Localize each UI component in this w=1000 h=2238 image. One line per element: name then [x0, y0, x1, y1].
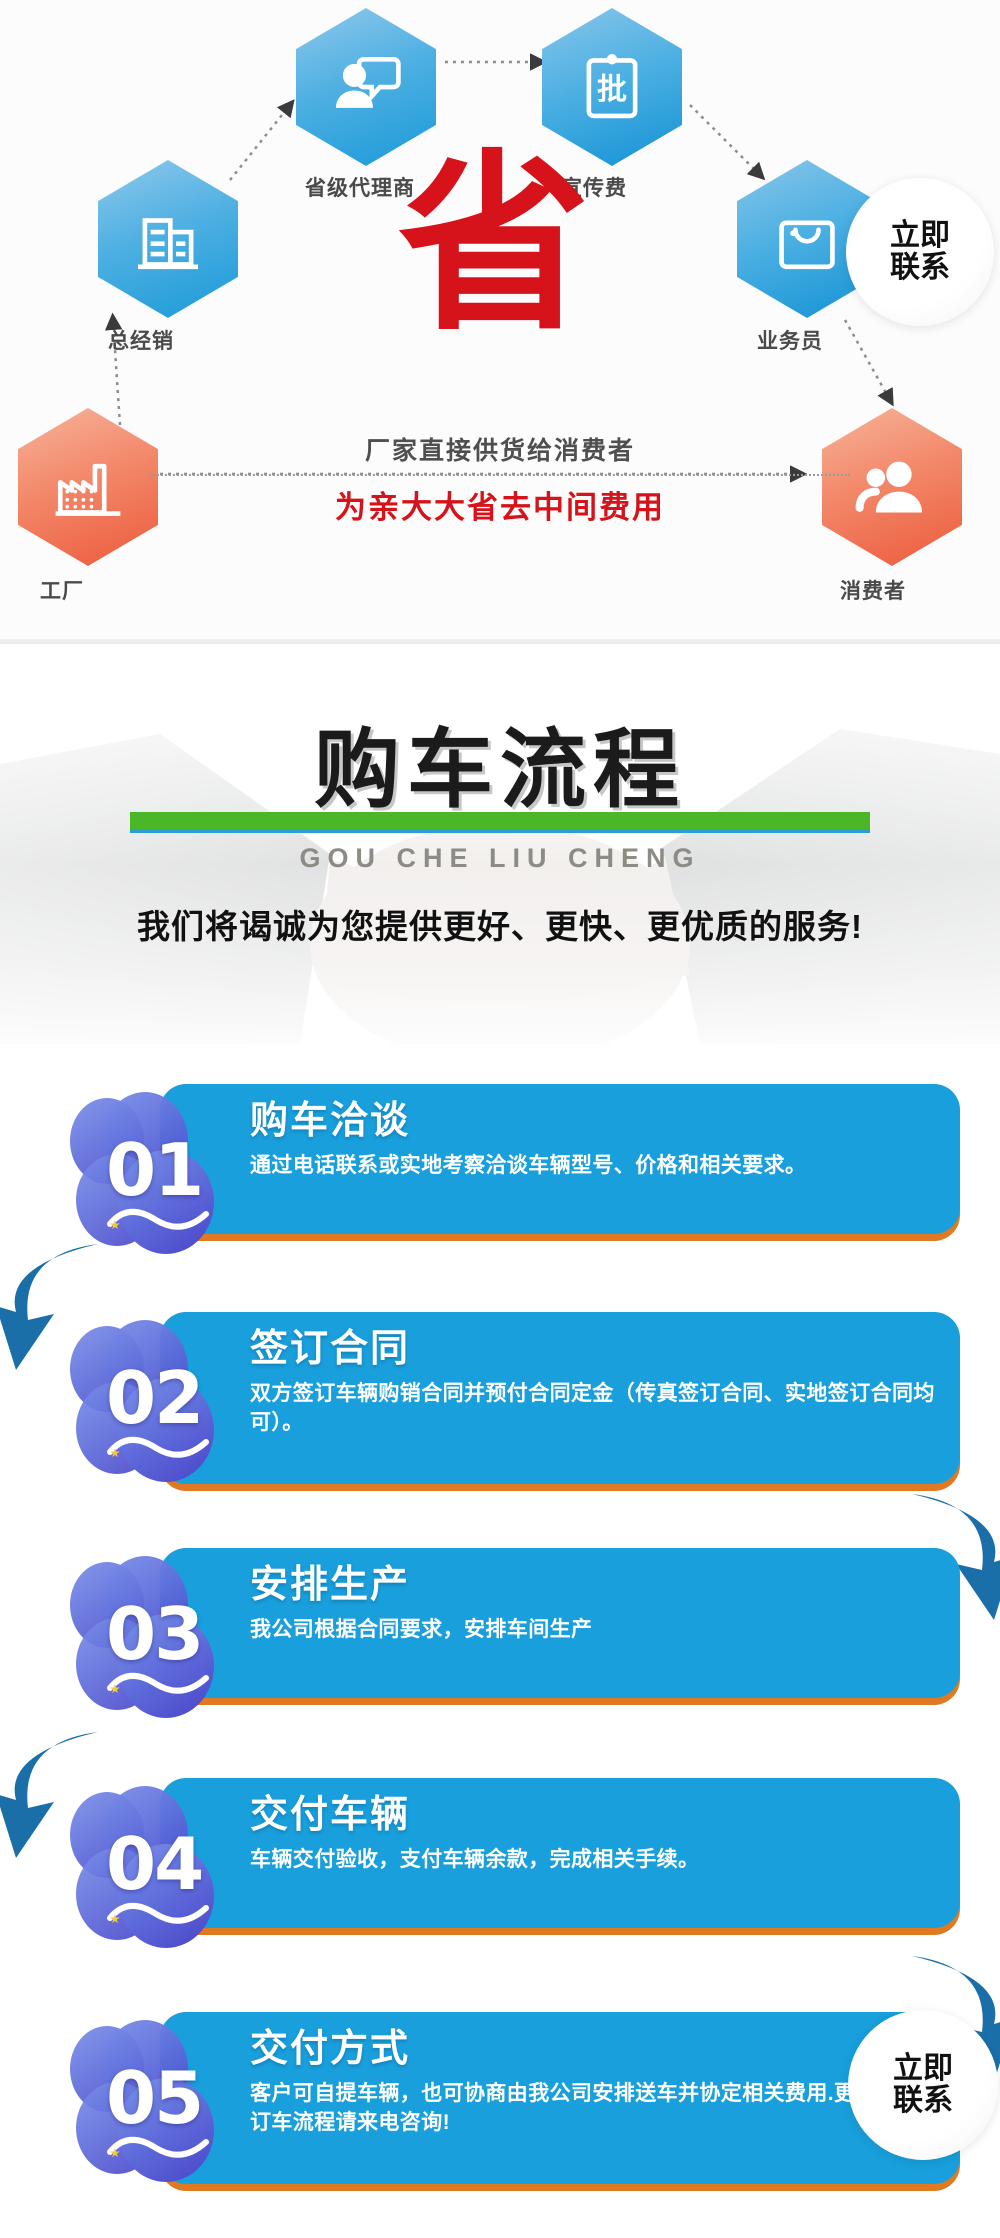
caption-save-middleman: 为亲大大省去中间费用 [0, 482, 1000, 527]
node-label-distributor: 总经销 [108, 325, 174, 355]
step-title: 签订合同 [250, 1328, 950, 1372]
step-number: 01 [106, 1128, 256, 1212]
squiggle-icon [106, 1204, 210, 1238]
node-label-salesperson: 业务员 [757, 325, 823, 355]
contact-now-badge-bottom[interactable]: 立即 联系 [848, 2010, 998, 2160]
step-title: 交付方式 [250, 2028, 950, 2072]
step-number: 03 [106, 1592, 256, 1676]
building-icon [131, 202, 205, 276]
process-steps-list: 01 购车洽谈 通过电话联系或实地考察洽谈车辆型号、价格和相关要求。 [0, 1084, 1000, 2210]
contact-badge-line1: 立即 [893, 2053, 953, 2085]
step-badge: 02 [70, 1320, 250, 1490]
step-text: 交付车辆 车辆交付验收，支付车辆余款，完成相关手续。 [250, 1794, 950, 1875]
contact-badge-line1: 立即 [890, 220, 950, 252]
process-step: 03 安排生产 我公司根据合同要求，安排车间生产 [0, 1548, 1000, 1746]
process-step: 01 购车洽谈 通过电话联系或实地考察洽谈车辆型号、价格和相关要求。 [0, 1084, 1000, 1282]
step-description: 车辆交付验收，支付车辆余款，完成相关手续。 [250, 1846, 940, 1875]
process-step: 05 交付方式 客户可自提车辆，也可协商由我公司安排送车并协定相关费用.更多详细… [0, 2012, 1000, 2210]
caption-divider [150, 474, 850, 476]
page-title: 购车流程 [314, 699, 686, 824]
step-text: 购车洽谈 通过电话联系或实地考察洽谈车辆型号、价格和相关要求。 [250, 1100, 950, 1181]
shopping-bag-icon [770, 202, 844, 276]
node-label-consumer: 消费者 [840, 575, 906, 605]
contact-now-badge-top[interactable]: 立即 联系 [846, 178, 994, 326]
step-text: 交付方式 客户可自提车辆，也可协商由我公司安排送车并协定相关费用.更多详细订车流… [250, 2028, 950, 2138]
step-text: 安排生产 我公司根据合同要求，安排车间生产 [250, 1564, 950, 1645]
step-description: 双方签订车辆购销合同并预付合同定金（传真签订合同、实地签订合同均可）。 [250, 1380, 940, 1438]
supply-chain-section: 省级代理商 批 宣传费 总经销 [0, 0, 1000, 644]
contact-badge-line2: 联系 [890, 252, 950, 284]
node-distributor [98, 160, 238, 318]
clipboard-approval-icon: 批 [575, 50, 649, 124]
infographic-page: 省级代理商 批 宣传费 总经销 [0, 0, 1000, 2238]
caption-direct-supply: 厂家直接供货给消费者 [0, 431, 1000, 467]
process-step: 02 签订合同 双方签订车辆购销合同并预付合同定金（传真签订合同、实地签订合同均… [0, 1312, 1000, 1510]
contact-badge-line2: 联系 [893, 2085, 953, 2117]
buy-process-section: 购车流程 GOU CHE LIU CHENG 我们将谒诚为您提供更好、更快、更优… [0, 644, 1000, 2233]
process-subtitle-pinyin: GOU CHE LIU CHENG [0, 843, 1000, 874]
step-text: 签订合同 双方签订车辆购销合同并预付合同定金（传真签订合同、实地签订合同均可）。 [250, 1328, 950, 1438]
step-badge: 03 [70, 1556, 250, 1726]
step-title: 交付车辆 [250, 1794, 950, 1838]
process-step: 04 交付车辆 车辆交付验收，支付车辆余款，完成相关手续。 [0, 1778, 1000, 1976]
squiggle-icon [106, 2132, 210, 2166]
step-number: 05 [106, 2056, 256, 2140]
node-label-factory: 工厂 [40, 575, 84, 605]
step-number: 04 [106, 1822, 256, 1906]
step-number: 02 [106, 1356, 256, 1440]
squiggle-icon [106, 1898, 210, 1932]
process-title-wrap: 购车流程 [0, 699, 1000, 824]
step-title: 安排生产 [250, 1564, 950, 1608]
step-badge: 04 [70, 1786, 250, 1956]
step-title: 购车洽谈 [250, 1100, 950, 1144]
process-tagline: 我们将谒诚为您提供更好、更快、更优质的服务! [0, 900, 1000, 948]
big-save-character: 省 [398, 150, 590, 342]
step-description: 通过电话联系或实地考察洽谈车辆型号、价格和相关要求。 [250, 1152, 940, 1181]
agent-chat-icon [329, 50, 403, 124]
squiggle-icon [106, 1432, 210, 1466]
step-description: 客户可自提车辆，也可协商由我公司安排送车并协定相关费用.更多详细订车流程请来电咨… [250, 2080, 940, 2138]
squiggle-icon [106, 1668, 210, 1702]
step-description: 我公司根据合同要求，安排车间生产 [250, 1616, 940, 1645]
svg-text:批: 批 [597, 73, 627, 108]
step-badge: 01 [70, 1092, 250, 1262]
step-badge: 05 [70, 2020, 250, 2190]
